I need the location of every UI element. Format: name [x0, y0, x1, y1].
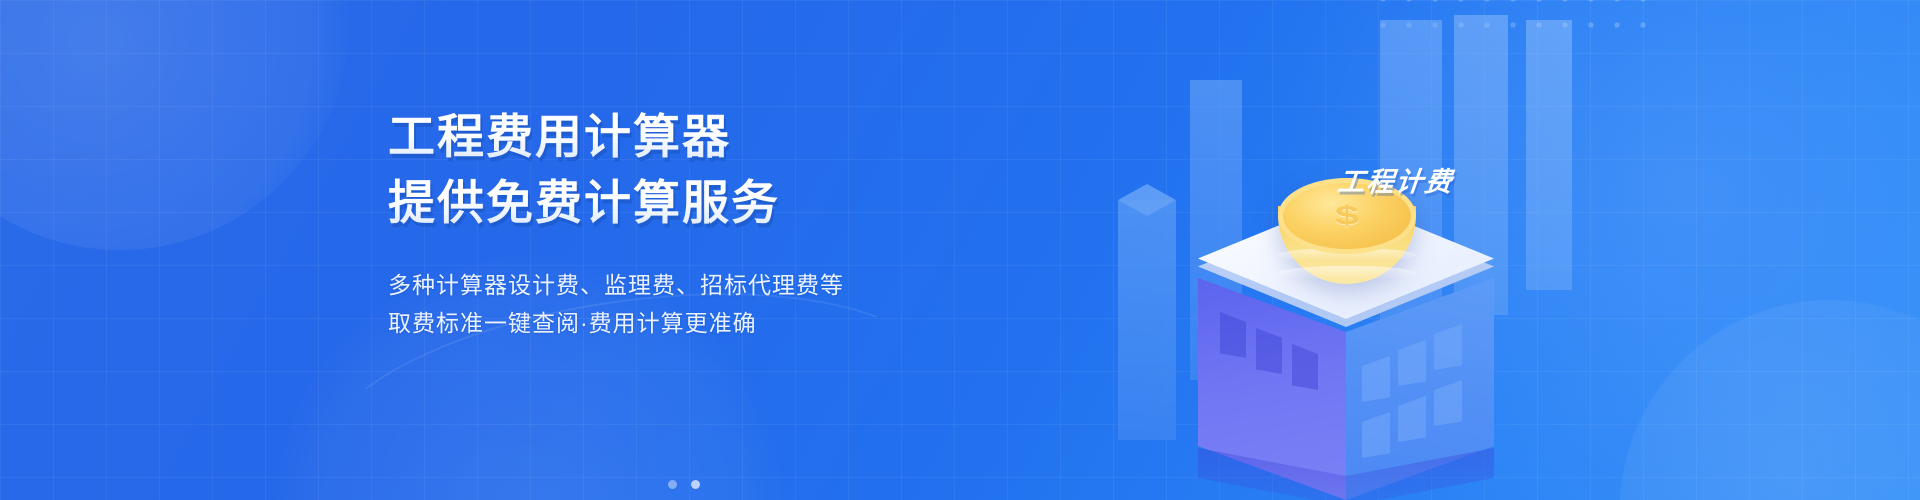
banner-subtitle-block: 多种计算器设计费、监理费、招标代理费等 取费标准一键查阅·费用计算更准确	[388, 266, 844, 342]
banner-copy-block: 工程费用计算器 提供免费计算服务 多种计算器设计费、监理费、招标代理费等 取费标…	[388, 108, 844, 342]
carousel-dot-2[interactable]	[691, 480, 700, 489]
carousel-dots[interactable]	[668, 480, 700, 489]
building-window-icon	[1256, 328, 1282, 374]
building-window-icon	[1292, 344, 1318, 390]
banner-headline-line-1: 工程费用计算器	[388, 108, 844, 166]
building-window-icon	[1398, 396, 1426, 442]
banner-subtitle-line-1: 多种计算器设计费、监理费、招标代理费等	[388, 266, 844, 304]
banner-illustration: $	[1080, 0, 1640, 500]
decorative-circle-top-left	[0, 0, 350, 250]
building-window-icon	[1434, 324, 1462, 370]
illustration-badge-label: 工程计费	[1336, 160, 1456, 199]
promo-banner: 工程费用计算器 提供免费计算服务 多种计算器设计费、监理费、招标代理费等 取费标…	[0, 0, 1920, 500]
coin-band	[1278, 266, 1416, 280]
building-window-icon	[1362, 412, 1390, 458]
decorative-bar-5	[1526, 20, 1572, 290]
carousel-dot-1[interactable]	[668, 480, 677, 489]
decorative-bar-1	[1118, 200, 1176, 440]
building-window-icon	[1398, 340, 1426, 386]
building-window-icon	[1362, 356, 1390, 402]
building-window-icon	[1220, 312, 1246, 358]
banner-subtitle-line-2: 取费标准一键查阅·费用计算更准确	[388, 304, 844, 342]
building-window-icon	[1434, 380, 1462, 426]
dollar-sign-icon: $	[1283, 196, 1411, 237]
banner-headline-line-2: 提供免费计算服务	[388, 174, 844, 232]
